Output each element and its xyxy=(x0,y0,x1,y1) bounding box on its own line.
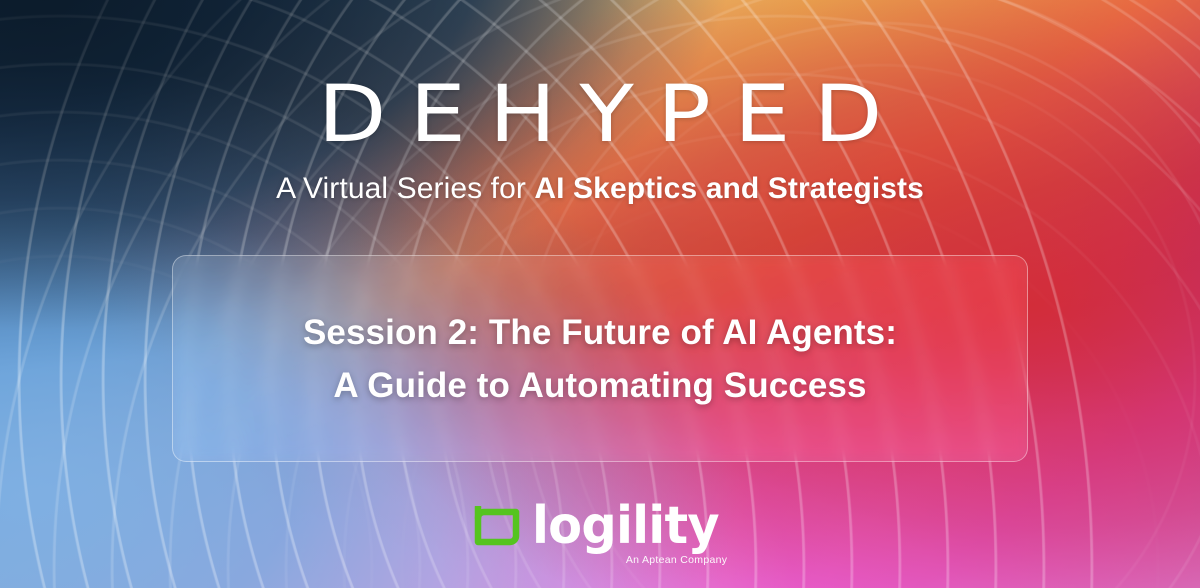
logility-text-block: logility An Aptean Company xyxy=(532,500,729,567)
slide-content: DEHYPED A Virtual Series for AI Skeptics… xyxy=(0,0,1200,588)
session-title-line-1: Session 2: The Future of AI Agents: xyxy=(303,313,897,352)
session-title-line-2: A Guide to Automating Success xyxy=(333,366,866,405)
logility-square-mark-icon xyxy=(472,506,520,548)
series-wordmark: DEHYPED xyxy=(0,75,1200,153)
session-title: Session 2: The Future of AI Agents: A Gu… xyxy=(303,306,897,412)
presentation-slide: DEHYPED A Virtual Series for AI Skeptics… xyxy=(0,0,1200,588)
series-tagline-regular: A Virtual Series for xyxy=(276,172,534,205)
logility-logo: logility An Aptean Company xyxy=(0,500,1200,567)
logility-wordmark: logility xyxy=(532,500,719,552)
logility-company-tagline: An Aptean Company xyxy=(626,553,727,567)
series-tagline-bold: AI Skeptics and Strategists xyxy=(534,172,924,205)
series-tagline: A Virtual Series for AI Skeptics and Str… xyxy=(0,170,1200,208)
session-title-card: Session 2: The Future of AI Agents: A Gu… xyxy=(172,255,1028,462)
